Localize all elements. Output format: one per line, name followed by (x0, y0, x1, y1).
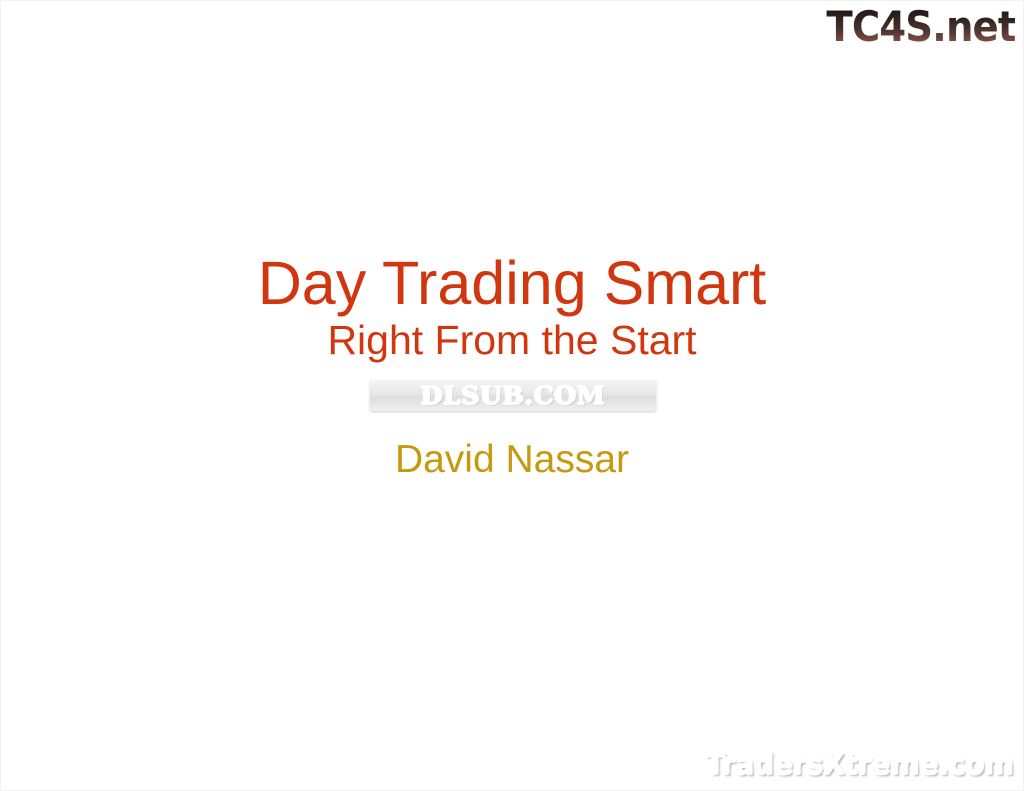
tradersxtreme-watermark-text: TradersXtreme.com (705, 748, 1013, 780)
presentation-slide: TC4S.net Day Trading Smart Right From th… (0, 0, 1024, 791)
title-block: Day Trading Smart Right From the Start (1, 249, 1023, 363)
dlsub-watermark-text: DLSUB.COM (421, 383, 605, 409)
author-block: David Nassar (1, 438, 1023, 482)
slide-title: Day Trading Smart (1, 249, 1023, 317)
slide-author: David Nassar (1, 438, 1023, 482)
slide-subtitle: Right From the Start (1, 317, 1023, 363)
brand-logo-text: TC4S.net (826, 4, 1015, 50)
brand-logo: TC4S.net (810, 3, 1015, 51)
dlsub-watermark: DLSUB.COM (370, 380, 656, 411)
tradersxtreme-watermark: TradersXtreme.com (699, 747, 1013, 781)
